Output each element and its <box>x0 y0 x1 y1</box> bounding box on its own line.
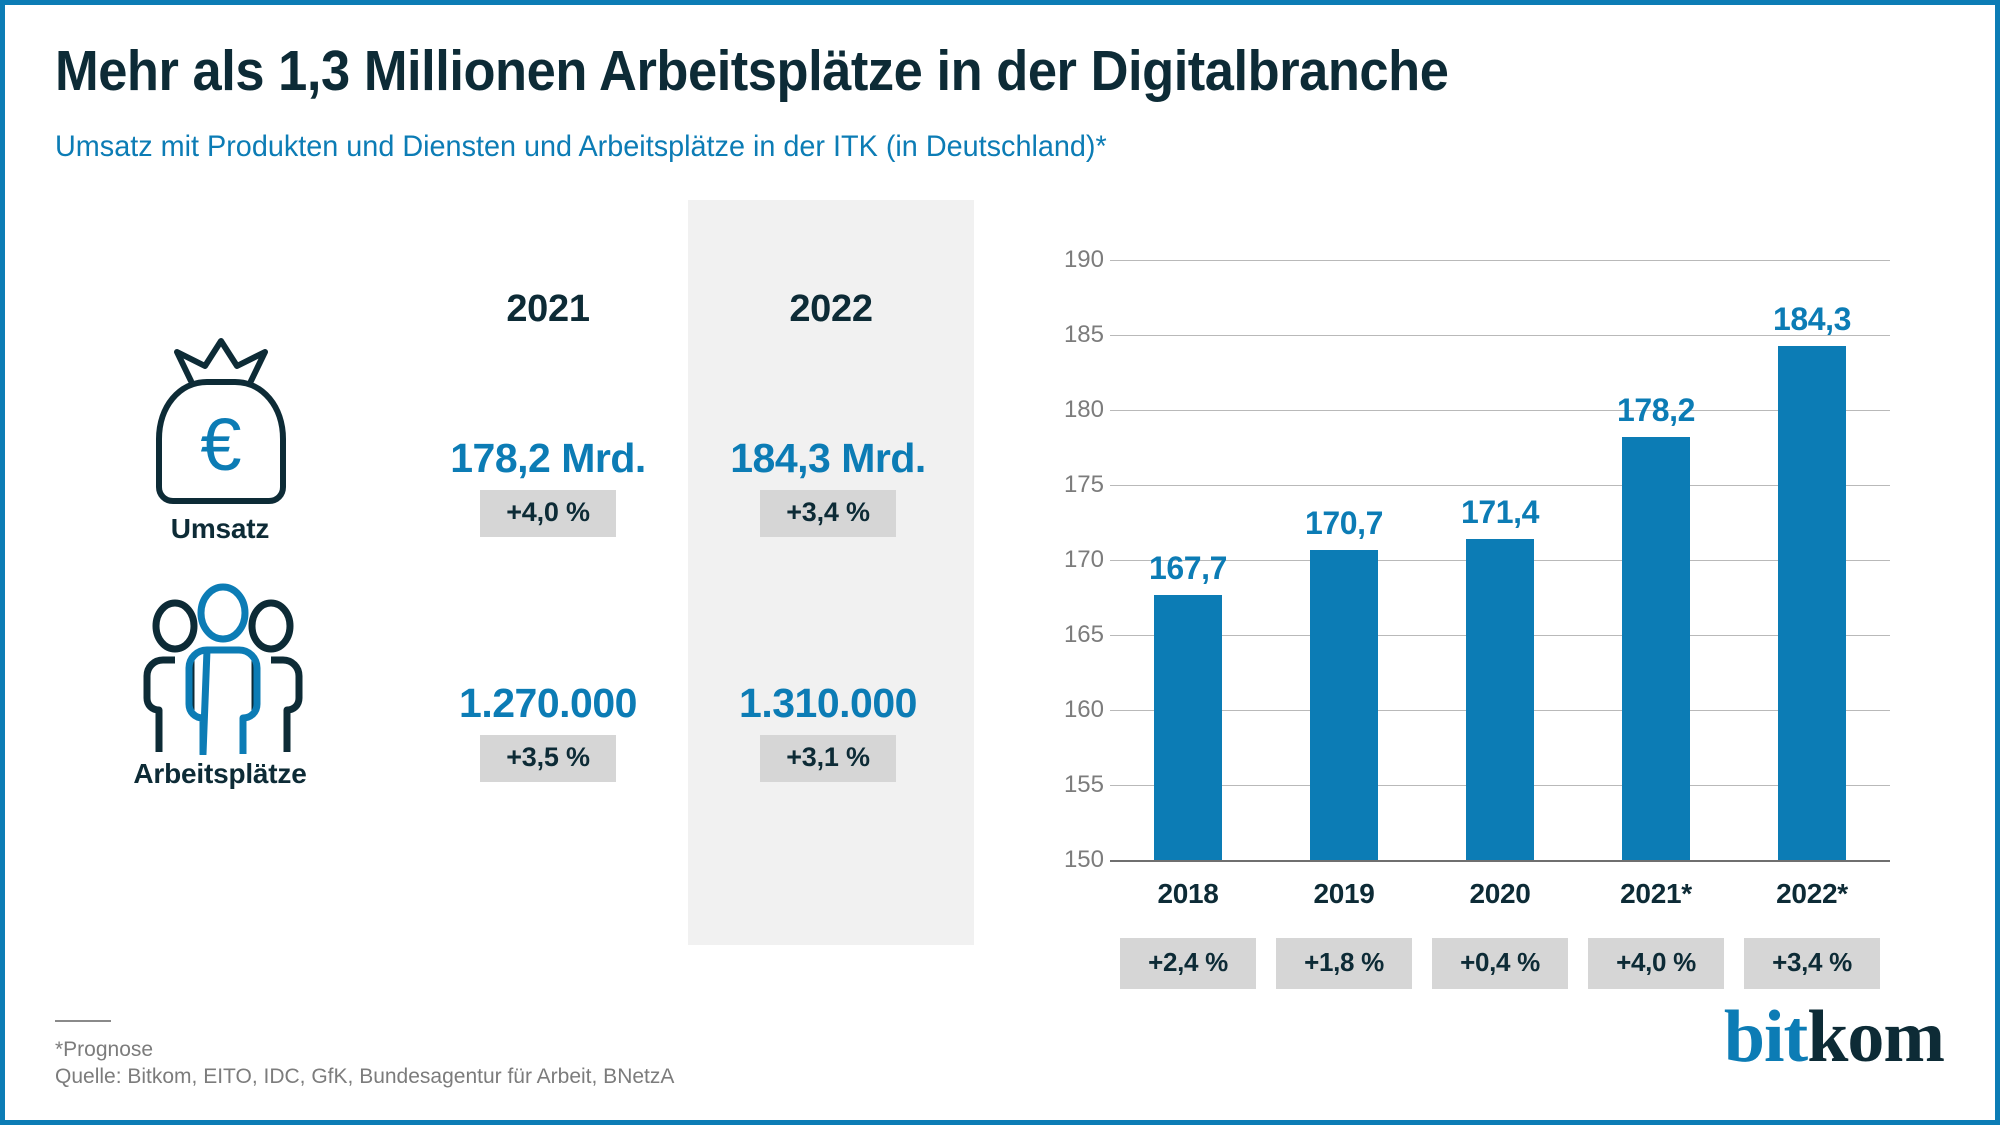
bitkom-logo: bitkom <box>1724 1000 1944 1074</box>
revenue-bar-chart: 150155160165170175180185190 167,7170,717… <box>1030 245 1910 965</box>
money-bag-euro-icon: € <box>133 335 313 510</box>
chart-growth-badge: +1,8 % <box>1276 938 1412 989</box>
chart-y-tick-label: 175 <box>1034 471 1104 499</box>
chart-gridline <box>1110 410 1890 411</box>
umsatz-value-2021: 178,2 Mrd. +4,0 % <box>438 435 658 537</box>
chart-growth-badge: +3,4 % <box>1744 938 1880 989</box>
arbeitsplaetze-change-2022: +3,1 % <box>760 735 896 782</box>
chart-bar-value-label: 171,4 <box>1420 494 1580 531</box>
chart-bar[interactable] <box>1778 346 1846 861</box>
arbeitsplaetze-value-2022: 1.310.000 +3,1 % <box>718 680 938 782</box>
footer-text: *Prognose Quelle: Bitkom, EITO, IDC, GfK… <box>55 1036 674 1090</box>
svg-text:€: € <box>200 403 241 486</box>
chart-bar[interactable] <box>1622 437 1690 860</box>
chart-x-tick-label: 2022* <box>1732 878 1892 910</box>
frame-border-top <box>0 0 2000 5</box>
umsatz-value-2022: 184,3 Mrd. +3,4 % <box>718 435 938 537</box>
summary-row-arbeitsplaetze: Arbeitsplätze 1.270.000 +3,5 % 1.310.000… <box>55 580 975 810</box>
chart-x-tick-label: 2018 <box>1108 878 1268 910</box>
arbeitsplaetze-value-2021: 1.270.000 +3,5 % <box>438 680 658 782</box>
chart-y-tick-label: 165 <box>1034 621 1104 649</box>
chart-bar[interactable] <box>1310 550 1378 861</box>
umsatz-amount-2022: 184,3 Mrd. <box>718 435 938 482</box>
chart-x-tick-label: 2019 <box>1264 878 1424 910</box>
frame-border-right <box>1995 0 2000 1125</box>
chart-y-tick-label: 190 <box>1034 246 1104 274</box>
logo-part-kom: kom <box>1807 996 1944 1078</box>
footer-divider <box>55 1020 111 1022</box>
summary-row-label-arbeitsplaetze: Arbeitsplätze <box>65 758 375 790</box>
chart-y-tick-label: 160 <box>1034 696 1104 724</box>
chart-y-tick-label: 170 <box>1034 546 1104 574</box>
arbeitsplaetze-amount-2022: 1.310.000 <box>718 680 938 727</box>
umsatz-amount-2021: 178,2 Mrd. <box>438 435 658 482</box>
footer-note: *Prognose <box>55 1036 674 1063</box>
chart-bar[interactable] <box>1466 539 1534 860</box>
chart-y-tick-label: 150 <box>1034 846 1104 874</box>
chart-x-tick-label: 2021* <box>1576 878 1736 910</box>
frame-border-bottom <box>0 1120 2000 1125</box>
chart-gridline <box>1110 260 1890 261</box>
chart-bar-value-label: 178,2 <box>1576 392 1736 429</box>
chart-y-tick-label: 180 <box>1034 396 1104 424</box>
chart-bar[interactable] <box>1154 595 1222 861</box>
arbeitsplaetze-amount-2021: 1.270.000 <box>438 680 658 727</box>
footer-source: Quelle: Bitkom, EITO, IDC, GfK, Bundesag… <box>55 1063 674 1090</box>
chart-plot-area: 167,7170,7171,4178,2184,3 <box>1110 260 1890 860</box>
chart-y-tick-label: 185 <box>1034 321 1104 349</box>
people-group-icon <box>133 580 313 755</box>
frame-border-left <box>0 0 5 1125</box>
chart-y-tick-label: 155 <box>1034 771 1104 799</box>
infographic-page: Mehr als 1,3 Millionen Arbeitsplätze in … <box>0 0 2000 1125</box>
column-header-2022: 2022 <box>695 288 967 331</box>
page-subtitle: Umsatz mit Produkten und Diensten und Ar… <box>55 130 1107 164</box>
chart-bar-value-label: 184,3 <box>1732 301 1892 338</box>
summary-row-umsatz: € Umsatz 178,2 Mrd. +4,0 % 184,3 Mrd. +3… <box>55 335 975 565</box>
chart-y-axis: 150155160165170175180185190 <box>1030 260 1104 860</box>
chart-bar-value-label: 167,7 <box>1108 550 1268 587</box>
summary-panel: 2021 2022 € Umsatz 178,2 Mrd. +4,0 % 184… <box>55 250 935 950</box>
page-title: Mehr als 1,3 Millionen Arbeitsplätze in … <box>55 38 1448 104</box>
chart-bar-value-label: 170,7 <box>1264 505 1424 542</box>
summary-row-label-umsatz: Umsatz <box>65 513 375 545</box>
chart-growth-badge: +4,0 % <box>1588 938 1724 989</box>
chart-x-tick-label: 2020 <box>1420 878 1580 910</box>
logo-part-bit: bit <box>1724 996 1807 1078</box>
arbeitsplaetze-change-2021: +3,5 % <box>480 735 616 782</box>
umsatz-change-2022: +3,4 % <box>760 490 896 537</box>
chart-axis-line <box>1110 860 1890 862</box>
chart-growth-badge: +2,4 % <box>1120 938 1256 989</box>
chart-gridline <box>1110 485 1890 486</box>
column-header-2021: 2021 <box>438 288 658 331</box>
chart-growth-badge: +0,4 % <box>1432 938 1568 989</box>
umsatz-change-2021: +4,0 % <box>480 490 616 537</box>
